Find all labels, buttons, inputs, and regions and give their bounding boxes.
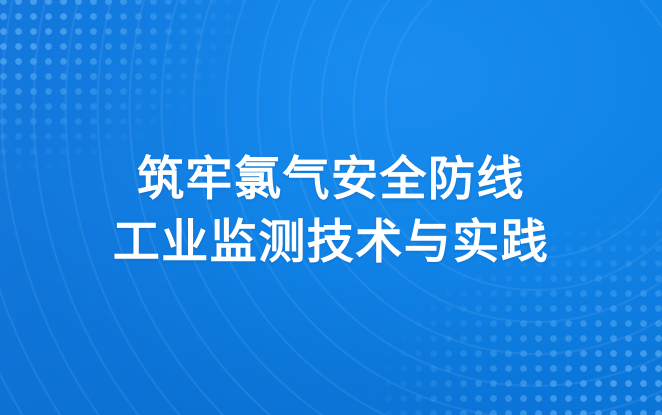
title-line-2: 工业监测技术与实践 <box>113 218 550 267</box>
headline-block: 筑牢氯气安全防线 工业监测技术与实践 <box>0 0 662 415</box>
promo-banner: 筑牢氯气安全防线 工业监测技术与实践 <box>0 0 662 415</box>
title-line-1: 筑牢氯气安全防线 <box>137 155 525 204</box>
